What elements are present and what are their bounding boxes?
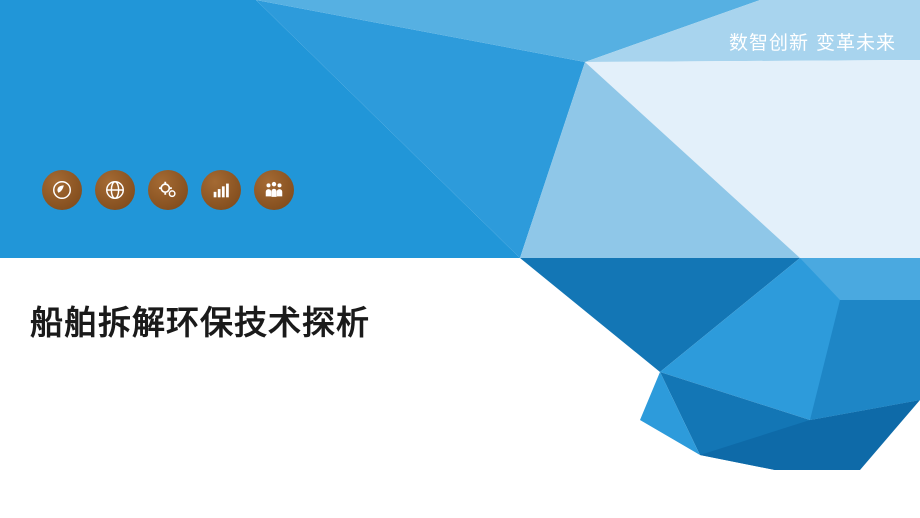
- gears-icon: [148, 170, 188, 210]
- polygon-artwork-svg: [0, 0, 920, 518]
- bar-chart-icon: [201, 170, 241, 210]
- polygon-artwork: [0, 0, 920, 518]
- tagline: 数智创新 变革未来: [729, 28, 896, 55]
- icon-row: [42, 170, 294, 210]
- title-slide: 数智创新 变革未来: [0, 0, 920, 518]
- globe-icon: [95, 170, 135, 210]
- leaf-globe-icon: [42, 170, 82, 210]
- page-title: 船舶拆解环保技术探析: [30, 296, 370, 344]
- people-group-icon: [254, 170, 294, 210]
